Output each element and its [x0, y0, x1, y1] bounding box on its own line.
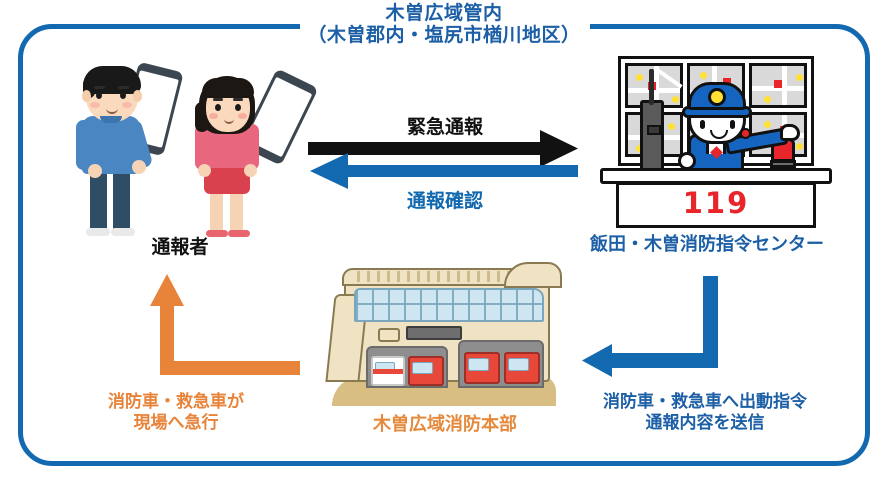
caller-group-illustration	[60, 58, 310, 238]
diagram-canvas: 木曽広域管内 （木曽郡内・塩尻市楢川地区）	[0, 0, 888, 484]
units-respond-line2: 現場へ急行	[58, 413, 294, 434]
fire-station-building-icon	[326, 258, 562, 410]
diagram-title-line1: 木曽広域管内	[284, 2, 604, 24]
desk-front-panel: 119	[616, 182, 816, 228]
fire-truck-icon	[464, 352, 500, 384]
handheld-radio-icon	[640, 100, 664, 172]
fire-truck-icon	[504, 352, 540, 384]
emergency-call-label: 緊急通報	[330, 112, 560, 139]
command-center-label: 飯田・木曽消防指令センター	[562, 234, 852, 257]
person-woman-icon	[186, 76, 270, 240]
fire-hq-label: 木曽広域消防本部	[330, 414, 560, 437]
dispatch-order-line2: 通報内容を送信	[560, 413, 850, 434]
units-respond-label: 消防車・救急車が 現場へ急行	[58, 392, 294, 435]
call-confirm-label: 通報確認	[330, 186, 560, 213]
diagram-title-line2: （木曽郡内・塩尻市楢川地区）	[284, 24, 604, 46]
units-respond-line1: 消防車・救急車が	[58, 392, 294, 413]
ambulance-icon	[371, 356, 405, 386]
desk-number-119: 119	[619, 189, 813, 218]
person-man-icon	[70, 64, 156, 238]
dispatch-order-line1: 消防車・救急車へ出動指令	[560, 392, 850, 413]
caller-label: 通報者	[100, 236, 260, 260]
diagram-title: 木曽広域管内 （木曽郡内・塩尻市楢川地区）	[284, 2, 604, 47]
dispatch-order-label: 消防車・救急車へ出動指令 通報内容を送信	[560, 392, 850, 435]
command-center-illustration: 119	[600, 56, 832, 228]
fire-truck-icon	[408, 356, 444, 386]
dispatcher-operator-icon	[670, 80, 780, 176]
